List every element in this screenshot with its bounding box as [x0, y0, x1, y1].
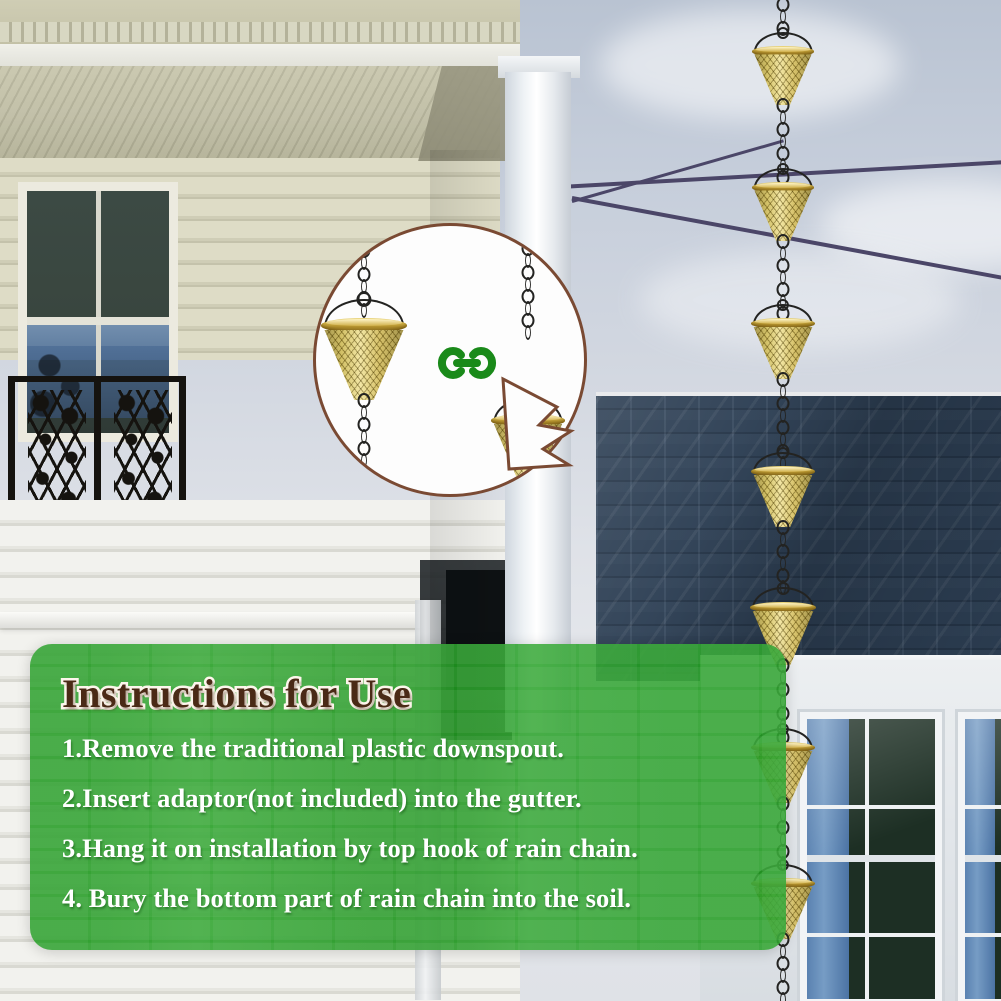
instruction-step-2: 2.Insert adaptor(not included) into the … — [62, 783, 756, 814]
cup-rim-highlight — [756, 183, 811, 188]
detail-callout — [313, 223, 587, 497]
callout-tail — [499, 373, 589, 473]
porch-fascia — [0, 44, 520, 66]
window-glass-reflection — [807, 719, 935, 999]
cup-rim-highlight — [756, 47, 811, 52]
instruction-step-4: 4. Bury the bottom part of rain chain in… — [62, 883, 756, 914]
page-title: Instructions for Use — [62, 670, 411, 717]
cup-rim-highlight — [326, 319, 402, 326]
cup-mesh-texture — [324, 330, 403, 401]
cup-mesh-cone — [324, 330, 403, 401]
instructions-panel: Instructions for Use 1.Remove the tradit… — [30, 644, 786, 950]
instruction-list: 1.Remove the traditional plastic downspo… — [62, 733, 756, 914]
product-image-canvas: Instructions for Use 1.Remove the tradit… — [0, 0, 1001, 1001]
cup-rim-highlight — [755, 467, 811, 472]
instruction-step-1: 1.Remove the traditional plastic downspo… — [62, 733, 756, 764]
rain-chain-cup — [321, 318, 407, 403]
instruction-step-3: 3.Hang it on installation by top hook of… — [62, 833, 756, 864]
chain-link-icon — [431, 343, 503, 383]
cup-rim-highlight — [755, 319, 811, 324]
chain-segment — [522, 244, 535, 340]
dentil-molding — [0, 22, 520, 42]
chain-segment — [358, 396, 371, 497]
window-sash-rail — [27, 317, 169, 325]
cup-rim-highlight — [754, 603, 812, 608]
window-glass-reflection — [965, 719, 1001, 999]
cloud — [600, 10, 900, 120]
window-right-1 — [800, 712, 942, 1001]
window-right-2 — [958, 712, 1001, 1001]
